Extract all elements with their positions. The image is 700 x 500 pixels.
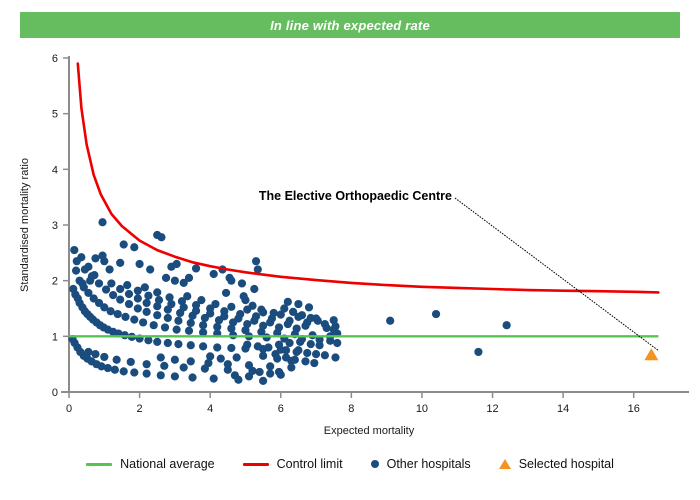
hospital-point[interactable] [236, 310, 244, 318]
hospital-point[interactable] [171, 277, 179, 285]
hospital-point[interactable] [255, 368, 263, 376]
hospital-point[interactable] [310, 359, 318, 367]
hospital-point[interactable] [210, 270, 218, 278]
hospital-point[interactable] [211, 300, 219, 308]
hospital-point[interactable] [199, 342, 207, 350]
legend-item[interactable]: Other hospitals [371, 457, 471, 471]
hospital-point[interactable] [116, 259, 124, 267]
hospital-point[interactable] [197, 296, 205, 304]
hospital-point[interactable] [125, 290, 133, 298]
hospital-point[interactable] [139, 318, 147, 326]
hospital-point[interactable] [243, 341, 251, 349]
hospital-point[interactable] [275, 323, 283, 331]
hospital-point[interactable] [153, 311, 161, 319]
hospital-point[interactable] [250, 285, 258, 293]
hospital-point[interactable] [210, 375, 218, 383]
hospital-point[interactable] [277, 371, 285, 379]
hospital-point[interactable] [217, 355, 225, 363]
hospital-point[interactable] [254, 342, 262, 350]
hospital-point[interactable] [130, 368, 138, 376]
hospital-point[interactable] [285, 317, 293, 325]
y-axis-tick-label: 6 [52, 53, 58, 65]
funnel-plot-screen: In line with expected rate 0123456024681… [0, 0, 700, 500]
hospital-point[interactable] [180, 363, 188, 371]
hospital-point[interactable] [307, 314, 315, 322]
hospital-point[interactable] [273, 355, 281, 363]
hospital-point[interactable] [227, 303, 235, 311]
hospital-point[interactable] [173, 260, 181, 268]
hospital-point[interactable] [287, 357, 295, 365]
hospital-point[interactable] [91, 350, 99, 358]
legend-item-label: Selected hospital [519, 457, 614, 471]
x-axis-tick-label: 0 [66, 403, 72, 415]
annotation-leader-line [455, 198, 659, 351]
hospital-point[interactable] [164, 339, 172, 347]
x-axis-tick-label: 12 [486, 403, 498, 415]
hospital-point[interactable] [143, 360, 151, 368]
hospital-point[interactable] [386, 317, 394, 325]
y-axis-tick-label: 1 [52, 331, 58, 343]
hospital-point[interactable] [130, 316, 138, 324]
hospital-point[interactable] [264, 343, 272, 351]
hospital-point[interactable] [164, 314, 172, 322]
hospital-point[interactable] [165, 293, 173, 301]
hospital-point[interactable] [474, 348, 482, 356]
hospital-point[interactable] [107, 307, 115, 315]
hospital-point[interactable] [259, 352, 267, 360]
navy-dot-icon [371, 460, 379, 468]
hospital-point[interactable] [134, 294, 142, 302]
hospital-point[interactable] [157, 233, 165, 241]
chart-container: 01234560246810121416Expected mortalitySt… [0, 0, 700, 500]
x-axis-title: Expected mortality [324, 425, 415, 437]
legend-item[interactable]: National average [86, 457, 215, 471]
hospital-point[interactable] [220, 307, 228, 315]
hospital-point[interactable] [143, 370, 151, 378]
hospital-point[interactable] [303, 349, 311, 357]
hospital-point[interactable] [125, 300, 133, 308]
hospital-point[interactable] [294, 300, 302, 308]
hospital-point[interactable] [252, 257, 260, 265]
hospital-point[interactable] [192, 264, 200, 272]
hospital-point[interactable] [331, 353, 339, 361]
hospital-point[interactable] [187, 341, 195, 349]
hospital-point[interactable] [143, 299, 151, 307]
hospital-point[interactable] [326, 337, 334, 345]
hospital-point[interactable] [307, 340, 315, 348]
y-axis-title: Standardised mortality ratio [19, 158, 31, 292]
hospital-point[interactable] [224, 360, 232, 368]
hospital-point[interactable] [114, 310, 122, 318]
hospital-point[interactable] [305, 303, 313, 311]
hospital-point[interactable] [160, 362, 168, 370]
hospital-point[interactable] [141, 283, 149, 291]
hospital-point[interactable] [331, 322, 339, 330]
y-axis-tick-label: 4 [52, 164, 58, 176]
legend-item[interactable]: Selected hospital [499, 457, 614, 471]
hospital-point[interactable] [146, 265, 154, 273]
orange-triangle-icon [499, 459, 511, 469]
hospital-point[interactable] [315, 341, 323, 349]
hospital-point[interactable] [121, 313, 129, 321]
hospital-point[interactable] [155, 296, 163, 304]
hospital-point[interactable] [157, 371, 165, 379]
x-axis-tick-label: 6 [278, 403, 284, 415]
hospital-point[interactable] [248, 302, 256, 310]
legend-item[interactable]: Control limit [243, 457, 343, 471]
hospital-point[interactable] [270, 309, 278, 317]
legend-item-label: National average [120, 457, 215, 471]
hospital-point[interactable] [162, 274, 170, 282]
hospital-point[interactable] [252, 312, 260, 320]
legend-item-label: Other hospitals [387, 457, 471, 471]
hospital-point[interactable] [84, 348, 92, 356]
hospital-point[interactable] [171, 372, 179, 380]
x-axis-tick-label: 16 [628, 403, 640, 415]
hospital-point[interactable] [88, 272, 96, 280]
legend-item-label: Control limit [277, 457, 343, 471]
hospital-point[interactable] [259, 322, 267, 330]
hospital-point[interactable] [127, 358, 135, 366]
hospital-point[interactable] [174, 317, 182, 325]
hospital-point[interactable] [104, 364, 112, 372]
x-axis-tick-label: 10 [416, 403, 428, 415]
hospital-point[interactable] [113, 356, 121, 364]
y-axis-tick-label: 3 [52, 220, 58, 232]
red-line-icon [243, 463, 269, 466]
hospital-point[interactable] [174, 340, 182, 348]
hospital-point[interactable] [134, 304, 142, 312]
other-hospitals-points [68, 218, 510, 385]
hospital-point[interactable] [109, 291, 117, 299]
hospital-point[interactable] [105, 265, 113, 273]
x-axis-tick-label: 2 [137, 403, 143, 415]
hospital-point[interactable] [107, 279, 115, 287]
hospital-point[interactable] [266, 362, 274, 370]
hospital-point[interactable] [275, 341, 283, 349]
hospital-point[interactable] [120, 240, 128, 248]
hospital-point[interactable] [120, 367, 128, 375]
hospital-point[interactable] [150, 321, 158, 329]
hospital-point[interactable] [134, 287, 142, 295]
hospital-point[interactable] [199, 321, 207, 329]
control-limit-line [78, 64, 659, 293]
hospital-point[interactable] [323, 324, 331, 332]
hospital-point[interactable] [98, 252, 106, 260]
x-axis-tick-label: 14 [557, 403, 569, 415]
annotation-label: The Elective Orthopaedic Centre [259, 189, 452, 203]
hospital-point[interactable] [282, 346, 290, 354]
hospital-point[interactable] [289, 308, 297, 316]
hospital-point[interactable] [111, 366, 119, 374]
hospital-point[interactable] [100, 353, 108, 361]
hospital-point[interactable] [206, 352, 214, 360]
funnel-plot-svg: 01234560246810121416Expected mortalitySt… [0, 0, 700, 500]
hospital-point[interactable] [116, 295, 124, 303]
hospital-point[interactable] [185, 327, 193, 335]
hospital-point[interactable] [173, 326, 181, 334]
y-axis-tick-label: 5 [52, 109, 58, 121]
hospital-point[interactable] [257, 306, 265, 314]
hospital-point[interactable] [123, 281, 131, 289]
hospital-point[interactable] [153, 338, 161, 346]
hospital-point[interactable] [225, 274, 233, 282]
hospital-point[interactable] [432, 310, 440, 318]
hospital-point[interactable] [157, 353, 165, 361]
hospital-point[interactable] [231, 371, 239, 379]
hospital-point[interactable] [503, 321, 511, 329]
hospital-point[interactable] [144, 292, 152, 300]
hospital-point[interactable] [95, 279, 103, 287]
hospital-point[interactable] [312, 350, 320, 358]
hospital-point[interactable] [171, 356, 179, 364]
hospital-point[interactable] [266, 370, 274, 378]
hospital-point[interactable] [233, 353, 241, 361]
hospital-point[interactable] [240, 292, 248, 300]
hospital-point[interactable] [98, 218, 106, 226]
hospital-point[interactable] [161, 323, 169, 331]
hospital-point[interactable] [187, 357, 195, 365]
x-axis-tick-label: 4 [207, 403, 213, 415]
hospital-point[interactable] [238, 279, 246, 287]
hospital-point[interactable] [222, 289, 230, 297]
hospital-point[interactable] [72, 267, 80, 275]
hospital-point[interactable] [143, 308, 151, 316]
hospital-point[interactable] [84, 263, 92, 271]
chart-legend: National averageControl limitOther hospi… [0, 457, 700, 471]
hospital-point[interactable] [116, 285, 124, 293]
hospital-point[interactable] [293, 348, 301, 356]
hospital-point[interactable] [259, 377, 267, 385]
hospital-point[interactable] [333, 339, 341, 347]
y-axis-tick-label: 0 [52, 387, 58, 399]
x-axis-tick-label: 8 [348, 403, 354, 415]
hospital-point[interactable] [301, 357, 309, 365]
hospital-point[interactable] [245, 361, 253, 369]
hospital-point[interactable] [153, 288, 161, 296]
hospital-point[interactable] [135, 260, 143, 268]
hospital-point[interactable] [77, 253, 85, 261]
hospital-point[interactable] [285, 339, 293, 347]
hospital-point[interactable] [180, 279, 188, 287]
hospital-point[interactable] [183, 292, 191, 300]
hospital-point[interactable] [314, 317, 322, 325]
hospital-point[interactable] [130, 243, 138, 251]
hospital-point[interactable] [213, 343, 221, 351]
hospital-point[interactable] [227, 344, 235, 352]
hospital-point[interactable] [296, 338, 304, 346]
y-axis-tick-label: 2 [52, 276, 58, 288]
hospital-point[interactable] [293, 324, 301, 332]
hospital-point[interactable] [284, 298, 292, 306]
hospital-point[interactable] [245, 372, 253, 380]
green-line-icon [86, 463, 112, 466]
hospital-point[interactable] [187, 319, 195, 327]
hospital-point[interactable] [188, 373, 196, 381]
hospital-point[interactable] [321, 351, 329, 359]
hospital-point[interactable] [91, 254, 99, 262]
hospital-point[interactable] [298, 311, 306, 319]
hospital-point[interactable] [243, 320, 251, 328]
hospital-point[interactable] [70, 246, 78, 254]
selected-hospital-marker[interactable] [644, 348, 658, 360]
